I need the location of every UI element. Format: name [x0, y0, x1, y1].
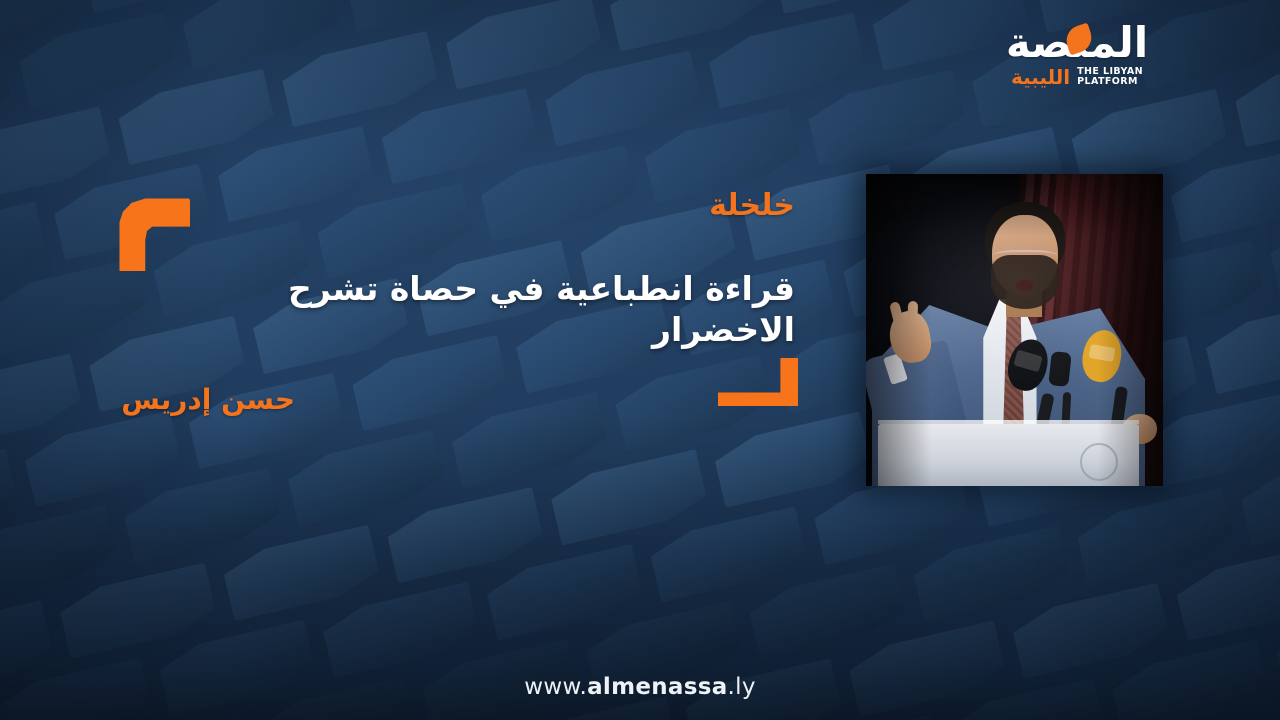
brand-logo[interactable]: المنصة الليبية THE LIBYAN PLATFORM — [992, 22, 1162, 88]
quote-close-icon — [718, 358, 798, 406]
article-kicker: خلخلة — [709, 188, 795, 223]
quote-open-icon — [104, 197, 190, 271]
brand-logo-subtitle: الليبية THE LIBYAN PLATFORM — [992, 67, 1162, 88]
url-prefix: www. — [524, 674, 587, 700]
url-tld: .ly — [728, 674, 756, 700]
brand-logo-arabic-sub: الليبية — [1011, 67, 1070, 87]
article-author: حسن إدريس — [121, 383, 295, 416]
photo-gradient-overlay — [866, 174, 1163, 486]
footer-website-url[interactable]: www.almenassa.ly — [0, 674, 1280, 700]
brand-logo-arabic: المنصة — [992, 22, 1162, 64]
brand-logo-english-line2: PLATFORM — [1077, 76, 1138, 87]
url-name: almenassa — [587, 674, 727, 700]
social-media-card: المنصة الليبية THE LIBYAN PLATFORM خلخلة… — [0, 0, 1280, 720]
speaker-photo — [866, 174, 1163, 486]
article-headline: قراءة انطباعية في حصاة تشرح الاخضرار — [175, 268, 795, 351]
brand-logo-english: THE LIBYAN PLATFORM — [1077, 67, 1143, 88]
